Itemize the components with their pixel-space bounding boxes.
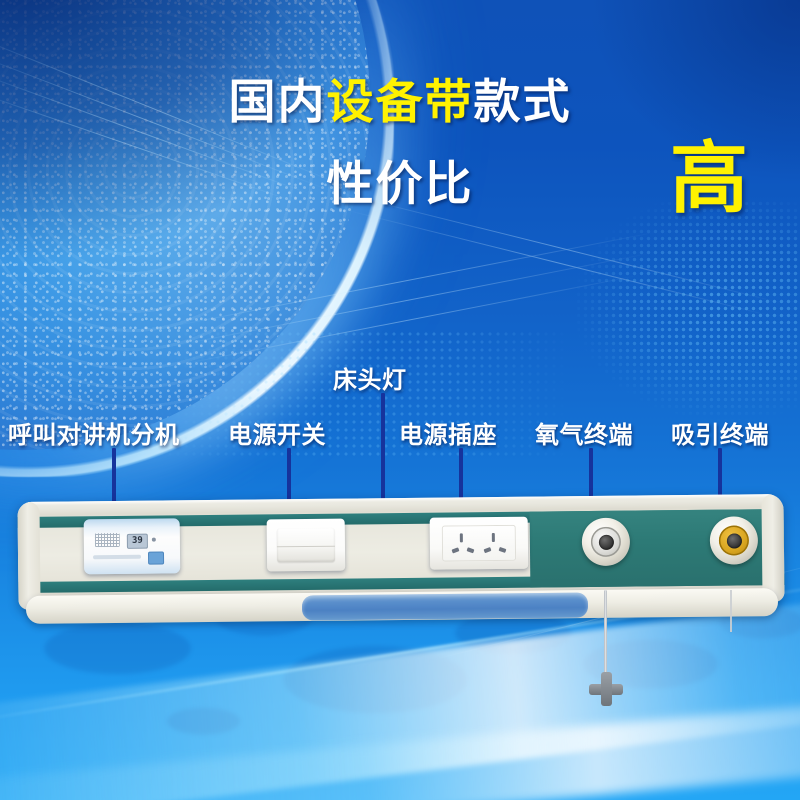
- suction-terminal-port: [726, 533, 741, 548]
- bed-head-unit: 39: [18, 498, 784, 628]
- callout-power-switch: 电源开关: [228, 415, 326, 450]
- callout-bed-lamp: 床头灯: [333, 360, 407, 395]
- callout-oxygen-terminal: 氧气终端: [535, 415, 633, 450]
- halftone-dot-field-secondary: [150, 330, 570, 460]
- callout-power-socket: 电源插座: [399, 415, 497, 450]
- socket-pin-icon: [492, 533, 495, 542]
- socket-pin-icon: [452, 547, 460, 553]
- hose-cross-connector: [589, 672, 623, 706]
- headline-line-1: 国内设备带款式: [0, 78, 800, 129]
- intercom-call-button[interactable]: [148, 551, 164, 564]
- socket-pin-icon: [467, 547, 475, 553]
- hose-connector-vertical: [601, 672, 612, 706]
- callout-intercom: 呼叫对讲机分机: [8, 415, 180, 450]
- speaker-grille-icon: [95, 533, 120, 547]
- suction-terminal-ring: [719, 525, 749, 555]
- oxygen-terminal-ring: [591, 527, 621, 557]
- oxygen-terminal-port: [598, 534, 613, 549]
- socket-pin-icon: [499, 547, 507, 553]
- headline-emphasis-word: 高: [670, 140, 748, 218]
- panel-endcap-left: [17, 502, 40, 610]
- callout-suction-terminal: 吸引终端: [671, 415, 769, 450]
- panel-endcap-right: [761, 494, 784, 602]
- power-socket[interactable]: [430, 517, 529, 570]
- socket-pin-icon: [460, 533, 463, 542]
- oxygen-hose: [604, 590, 607, 678]
- intercom-slot: [93, 555, 141, 560]
- nurse-call-intercom[interactable]: 39: [84, 518, 181, 574]
- promo-banner: 国内设备带款式 性价比 高 呼叫对讲机分机 电源开关 床头灯 电源插座 氧气终端…: [0, 0, 800, 800]
- socket-face: [442, 525, 516, 562]
- power-switch[interactable]: [267, 519, 346, 572]
- oxygen-terminal-outlet[interactable]: [582, 518, 631, 567]
- suction-hose: [730, 590, 732, 632]
- suction-terminal-outlet[interactable]: [710, 516, 759, 565]
- headline-part-3: 款式: [474, 75, 572, 130]
- intercom-led-indicator: [152, 538, 156, 542]
- intercom-display: 39: [127, 534, 148, 549]
- headline-part-2-highlight: 设备带: [327, 75, 474, 130]
- headline-part-1: 国内: [229, 75, 327, 130]
- bed-lamp-cover: [302, 593, 588, 621]
- socket-pin-icon: [484, 547, 492, 553]
